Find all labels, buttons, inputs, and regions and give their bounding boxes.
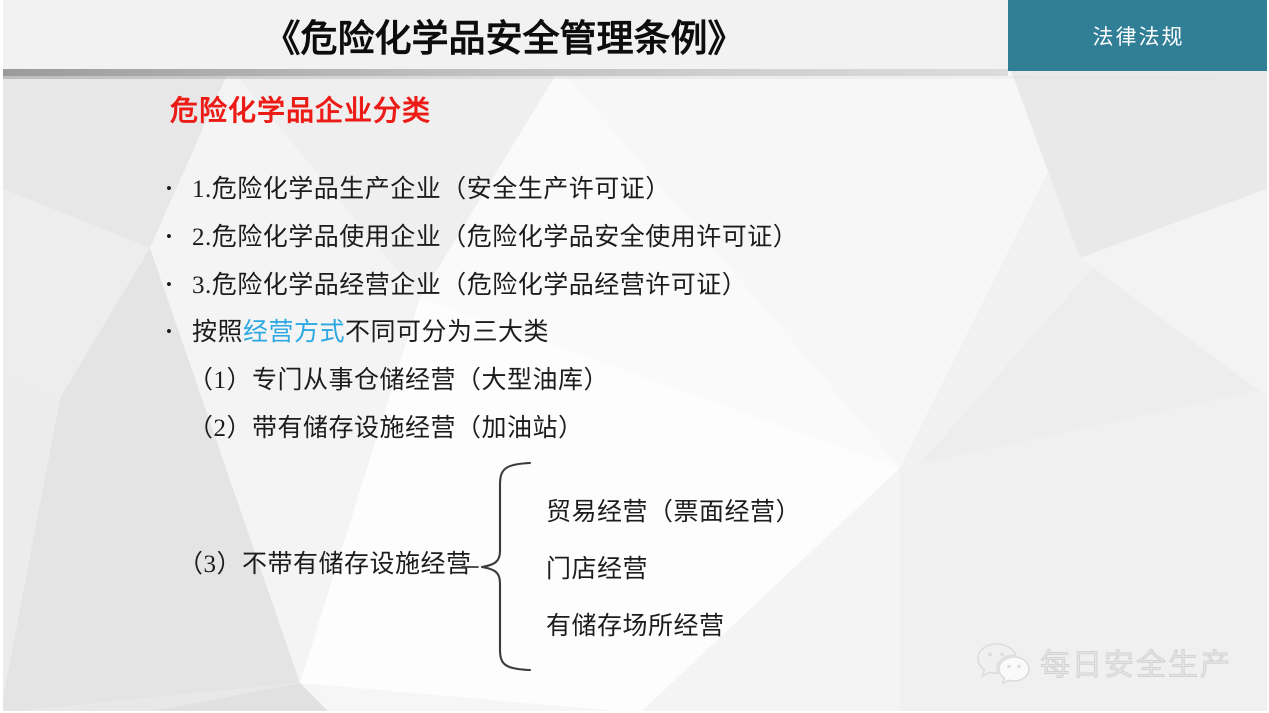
- header-divider-shadow-soft: [0, 76, 1269, 79]
- curly-brace-icon: [460, 459, 550, 674]
- brace-item: 贸易经营（票面经营）: [546, 492, 801, 528]
- brace-item: 有储存场所经营: [546, 606, 725, 642]
- brace-diagram: （3）不带有储存设施经营 贸易经营（票面经营） 门店经营 有储存场所经营: [0, 69, 1269, 713]
- slide-body: 危险化学品企业分类 •1.危险化学品生产企业（安全生产许可证） •2.危险化学品…: [0, 69, 1269, 713]
- watermark-text: 每日安全生产: [1040, 640, 1232, 684]
- wechat-logo-icon: [976, 640, 1032, 684]
- category-badge: 法律法规: [1008, 0, 1269, 71]
- header-divider-shadow: [0, 69, 1008, 76]
- page-frame-left: [0, 0, 3, 713]
- page-title: 《危险化学品安全管理条例》: [0, 0, 1008, 69]
- brace-label: （3）不带有储存设施经营: [178, 544, 472, 580]
- slide-canvas: 《危险化学品安全管理条例》 法律法规 危险化学品企业分类 •1.危险化学品生产企…: [0, 0, 1269, 713]
- watermark: 每日安全生产: [976, 634, 1256, 690]
- brace-item: 门店经营: [546, 549, 648, 585]
